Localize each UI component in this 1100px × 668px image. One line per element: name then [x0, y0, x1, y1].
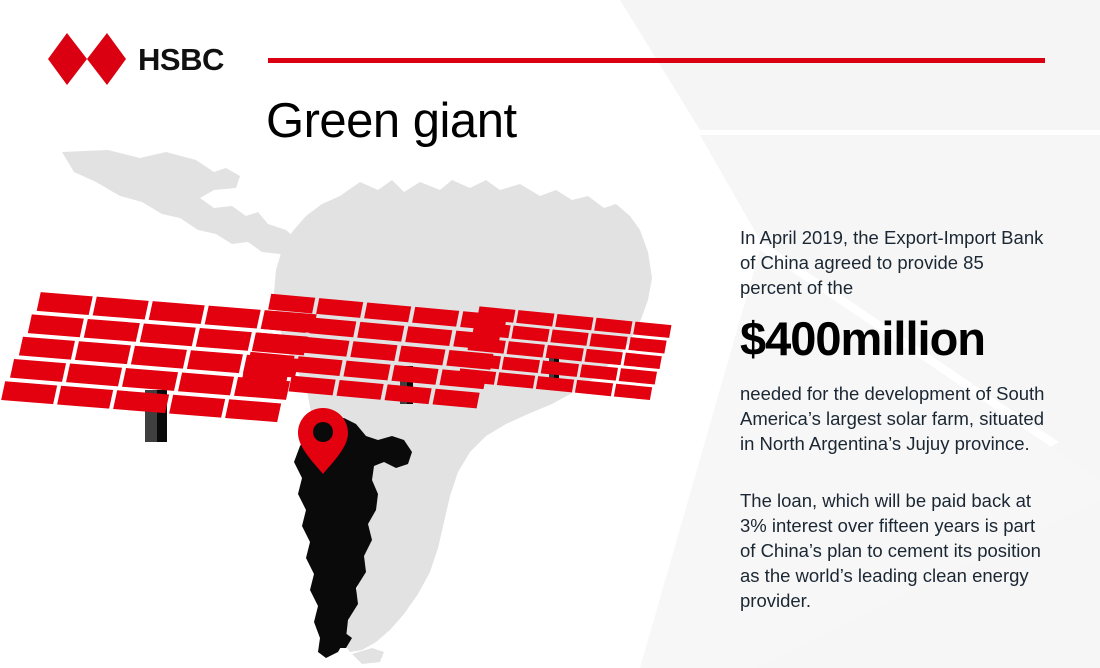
header-red-rule [268, 58, 1045, 63]
page-title: Green giant [266, 92, 517, 151]
headline-figure: $400million [740, 314, 1050, 363]
brand-logo[interactable]: HSBC [48, 33, 224, 85]
story-text-column: In April 2019, the Export-Import Bank of… [740, 225, 1050, 613]
brand-wordmark: HSBC [138, 44, 224, 75]
header: HSBC [0, 0, 1100, 100]
lead-paragraph: In April 2019, the Export-Import Bank of… [740, 225, 1050, 300]
infographic-canvas: HSBC Green giant [0, 0, 1100, 668]
hsbc-hexagon-logo-icon [48, 33, 126, 85]
middle-paragraph: needed for the development of South Amer… [740, 381, 1050, 456]
closing-paragraph: The loan, which will be paid back at 3% … [740, 488, 1050, 613]
